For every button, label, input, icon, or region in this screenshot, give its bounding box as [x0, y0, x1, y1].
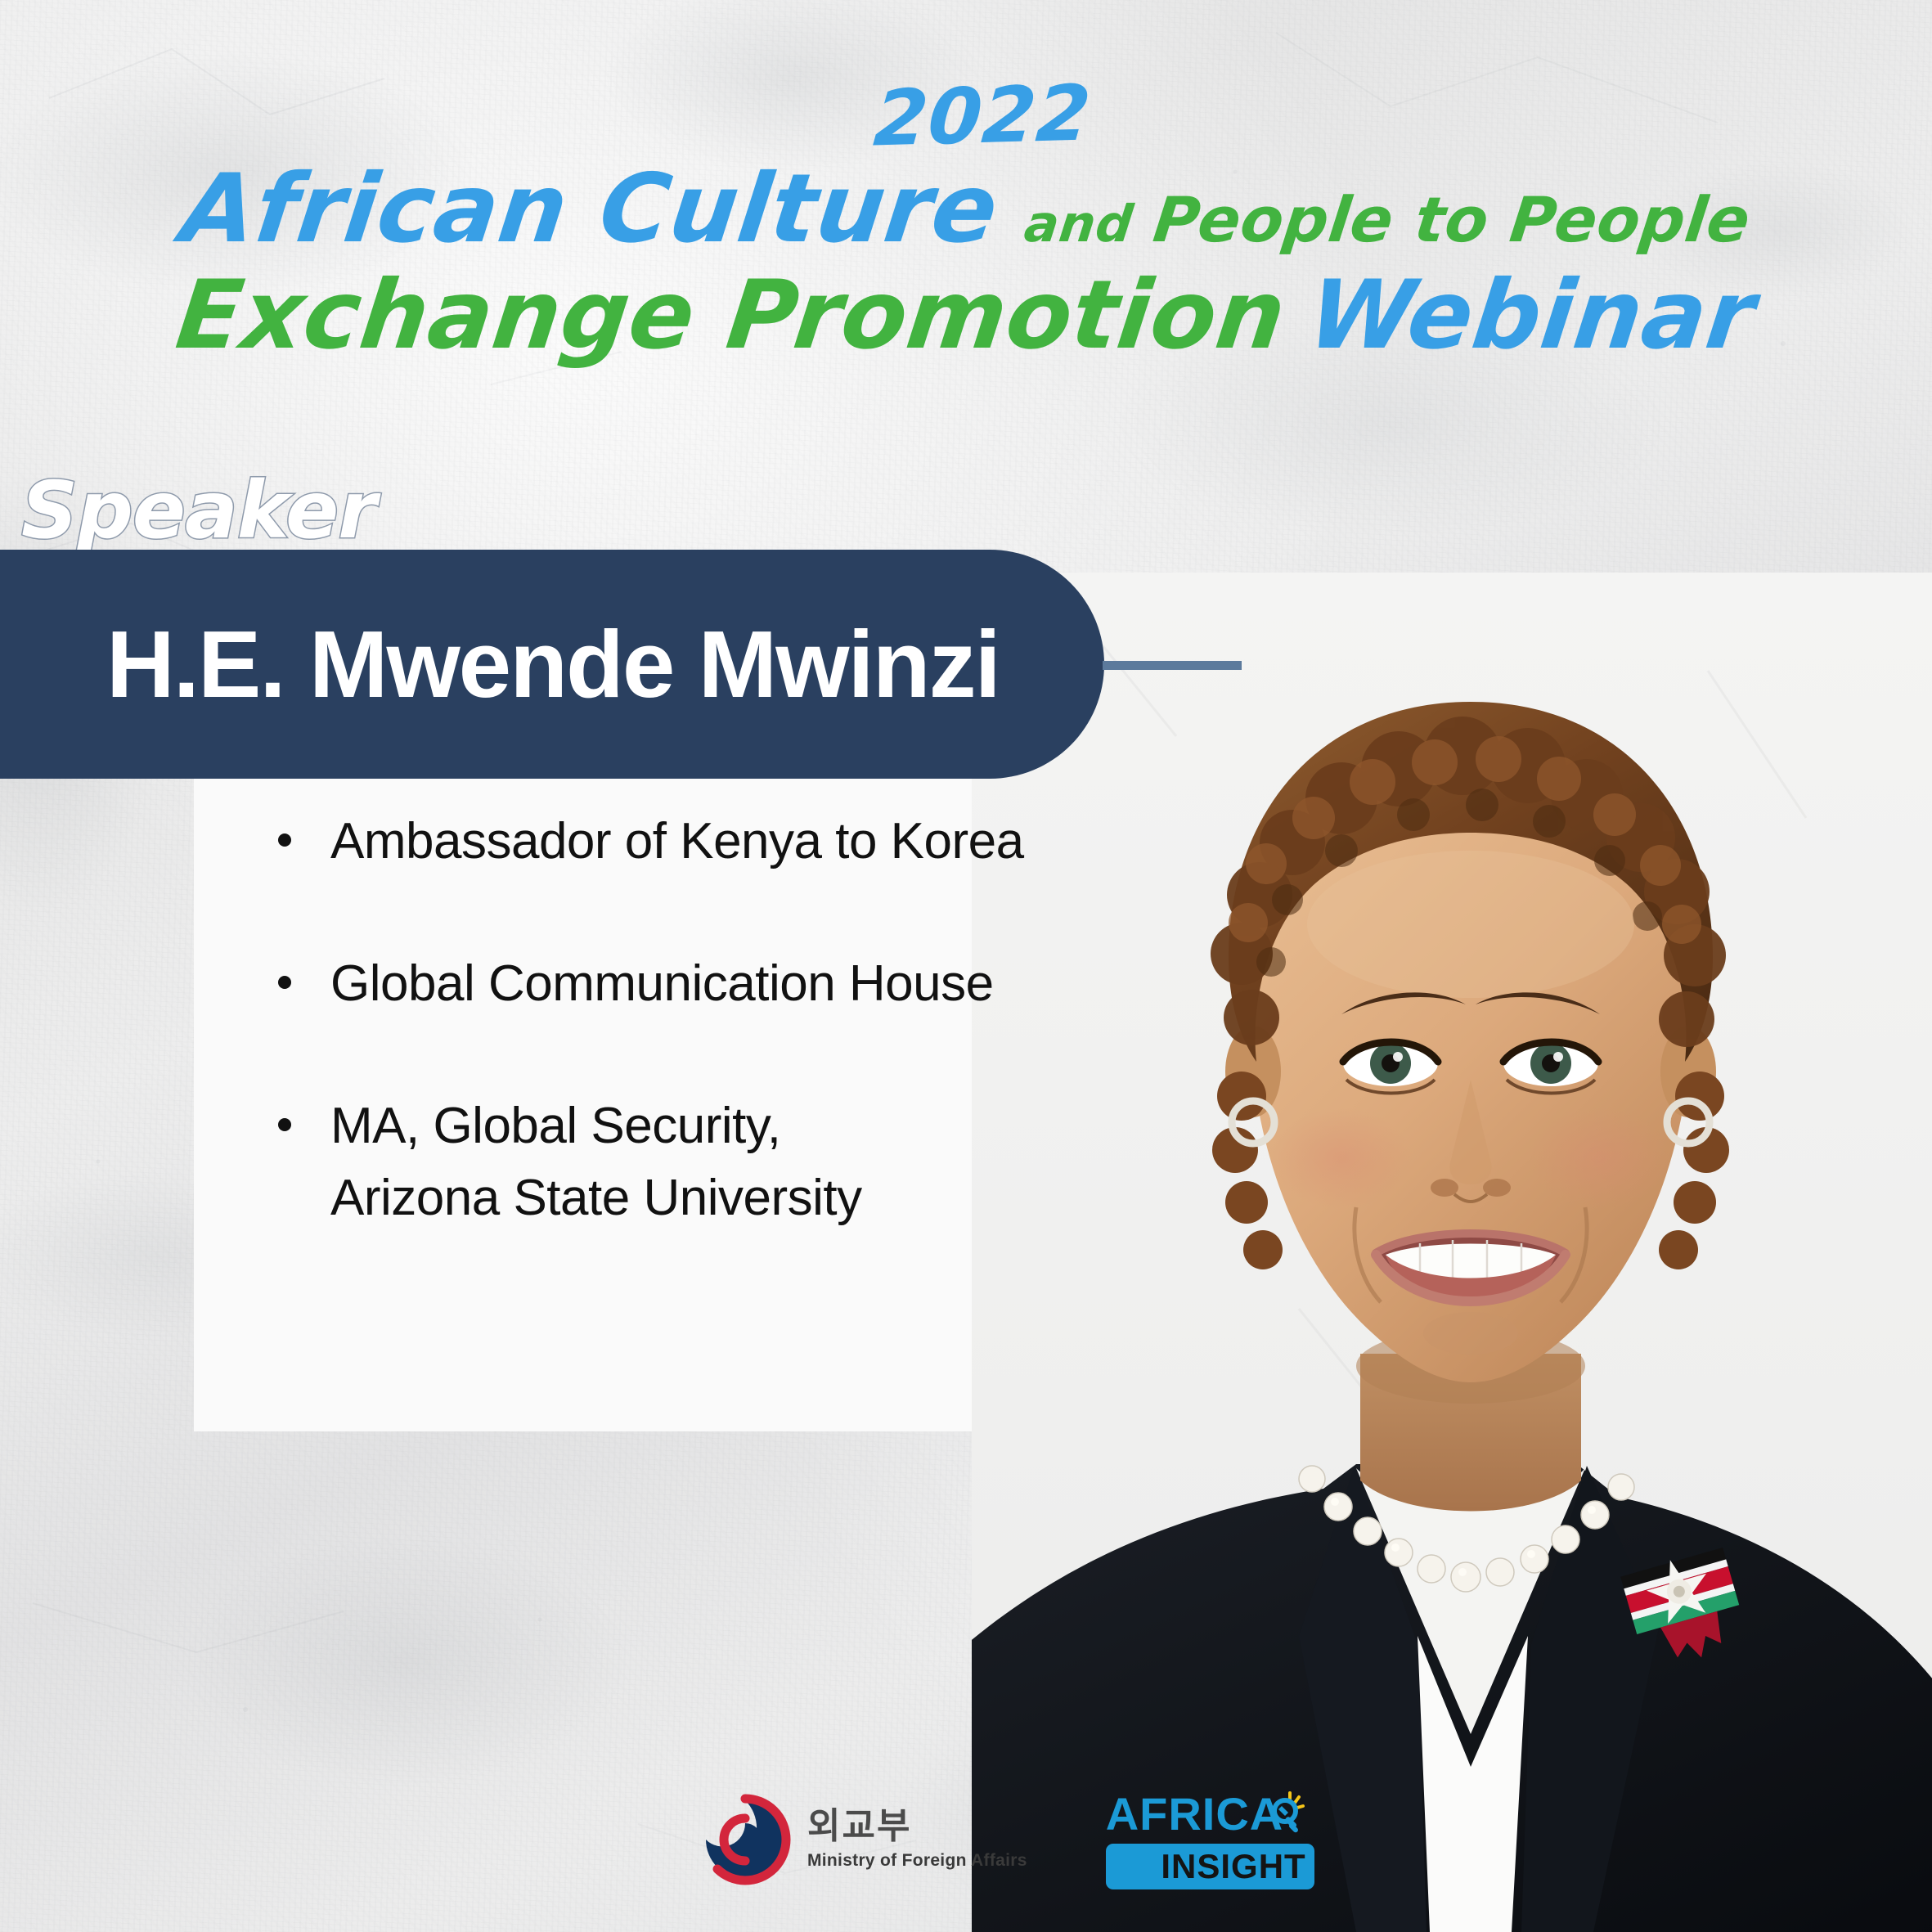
africa-wordmark: AFRICA — [1106, 1791, 1284, 1837]
lightbulb-icon — [1262, 1790, 1305, 1835]
speaker-label: Speaker — [21, 465, 376, 556]
speaker-credentials-list: Ambassador of Kenya to Korea Global Comm… — [278, 806, 1301, 1305]
credential-text: Ambassador of Kenya to Korea — [330, 806, 1024, 878]
bullet-dot-icon — [278, 833, 291, 847]
list-item: Ambassador of Kenya to Korea — [278, 806, 1301, 878]
list-item: Global Communication House — [278, 948, 1301, 1020]
mofa-name-korean: 외교부 — [807, 1808, 1027, 1844]
speaker-name-banner: H.E. Mwende Mwinzi — [0, 550, 1104, 779]
taegeuk-icon — [699, 1794, 791, 1885]
mofa-name-english: Ministry of Foreign Affairs — [807, 1851, 1027, 1871]
bullet-dot-icon — [278, 1118, 291, 1131]
webinar-poster: 2022 African CultureandPeople to People … — [0, 0, 1932, 1932]
bullet-dot-icon — [278, 976, 291, 989]
credential-text: Global Communication House — [330, 948, 994, 1020]
credential-text: MA, Global Security, Arizona State Unive… — [330, 1090, 862, 1234]
africa-insight-logo: AFRICA INSIGHT — [1106, 1790, 1314, 1889]
banner-connector-line — [1103, 661, 1242, 670]
insight-wordmark: INSIGHT — [1161, 1847, 1305, 1886]
speaker-name: H.E. Mwende Mwinzi — [106, 609, 1000, 719]
footer-logos: 외교부 Ministry of Foreign Affairs AFRICA — [699, 1790, 1314, 1889]
list-item: MA, Global Security, Arizona State Unive… — [278, 1090, 1301, 1234]
mofa-logo: 외교부 Ministry of Foreign Affairs — [699, 1794, 1027, 1885]
